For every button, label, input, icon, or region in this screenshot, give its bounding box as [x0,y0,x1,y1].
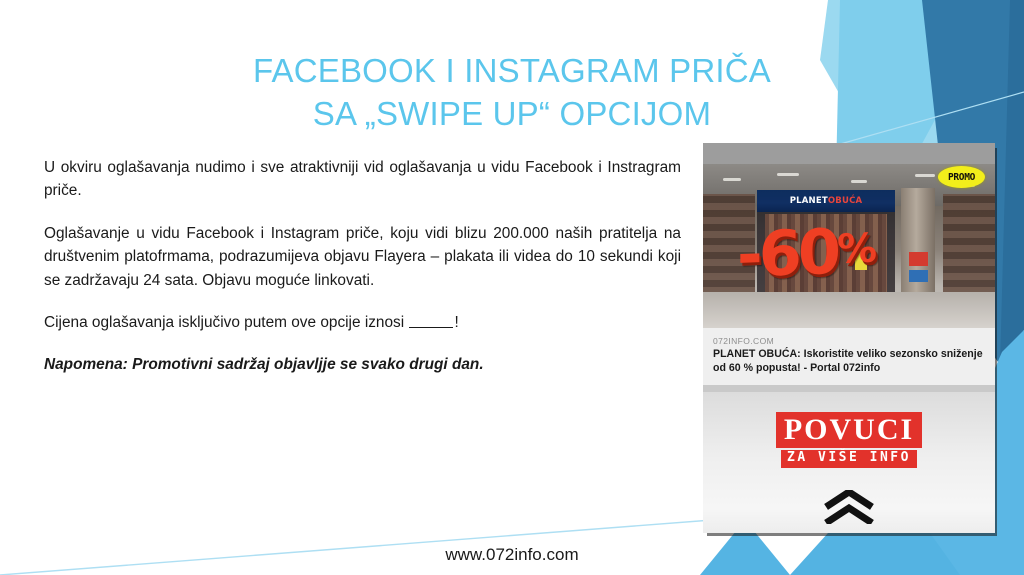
caption-headline: PLANET OBUĆA: Iskoristite veliko sezonsk… [713,348,985,375]
note-paragraph: Napomena: Promotivni sadržaj objavljje s… [44,353,681,376]
mall-floor [703,292,995,328]
discount-graphic: -60% [737,220,873,287]
title-line-1: FACEBOOK I INSTAGRAM PRIČA [0,50,1024,93]
paragraph-1: U okviru oglašavanja nudimo i sve atrakt… [44,156,681,203]
ceiling-light [851,180,867,183]
price-blank-field[interactable] [409,327,453,328]
title-line-2: SA „SWIPE UP“ OPCIJOM [0,93,1024,136]
promo-badge: PROMO [938,166,985,188]
paragraph-2: Oglašavanje u vidu Facebook i Instagram … [44,222,681,292]
ceiling-light [723,178,741,181]
swipe-primary-label: POVUCI [776,412,922,448]
pillar-poster-red [909,252,928,266]
body-copy: U okviru oglašavanja nudimo i sve atrakt… [44,156,681,377]
pillar-poster-blue [909,270,928,282]
price-text-after: ! [454,314,458,331]
paragraph-3: Cijena oglašavanja isključivo putem ove … [44,311,681,334]
ceiling-light [777,173,799,176]
store-sign-obuca: OBUĆA [828,196,862,206]
instagram-story-card: PLANET OBUĆA -60% PROMO 072INFO.COM PLAN… [703,143,995,533]
page-title: FACEBOOK I INSTAGRAM PRIČA SA „SWIPE UP“… [0,50,1024,136]
swipe-secondary-label: ZA VIŠE INFO [781,450,917,467]
link-preview-caption[interactable]: 072INFO.COM PLANET OBUĆA: Iskoristite ve… [703,328,995,385]
store-sign: PLANET OBUĆA [757,190,895,212]
caption-divider [703,385,995,392]
footer-url: www.072info.com [0,545,1024,565]
story-photo: PLANET OBUĆA -60% PROMO [703,164,995,328]
price-text-before: Cijena oglašavanja isključivo putem ove … [44,314,408,331]
double-chevron-up-icon[interactable] [821,490,877,529]
discount-percent: % [837,226,873,273]
swipe-up-panel[interactable]: POVUCI ZA VIŠE INFO [703,392,995,533]
store-sign-planet: PLANET [790,196,828,206]
card-status-band [703,143,995,164]
ceiling-light [915,174,935,177]
slide-canvas: FACEBOOK I INSTAGRAM PRIČA SA „SWIPE UP“… [0,0,1024,575]
caption-domain: 072INFO.COM [713,336,985,346]
discount-number: -60 [737,215,837,291]
